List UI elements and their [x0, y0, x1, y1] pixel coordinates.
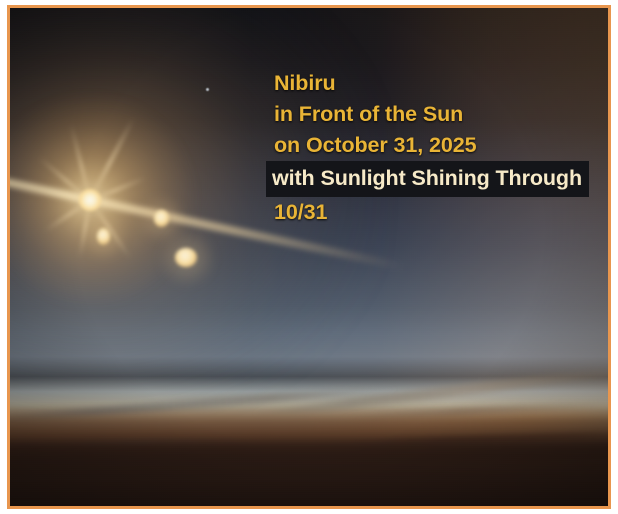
caption-line-1: Nibiru: [268, 68, 598, 99]
caption-line-2: in Front of the Sun: [268, 99, 598, 130]
orb-lower-right: [175, 248, 197, 267]
orb-upper-right: [154, 210, 169, 227]
sky-photograph: Nibiru in Front of the Sun on October 31…: [10, 8, 608, 506]
star-point: [206, 88, 209, 91]
caption-text: in Front of the Sun: [268, 102, 463, 126]
dark-foreground: [10, 404, 608, 506]
photo-frame: Nibiru in Front of the Sun on October 31…: [7, 5, 611, 509]
caption-line-5: 10/31: [268, 197, 598, 228]
caption-text: on October 31, 2025: [268, 133, 476, 157]
caption-line-3: on October 31, 2025: [268, 130, 598, 161]
caption-text: Nibiru: [268, 71, 336, 95]
caption-overlay: Nibiru in Front of the Sun on October 31…: [268, 68, 598, 228]
caption-line-4-highlighted: with Sunlight Shining Through: [268, 161, 598, 197]
orb-small-left: [97, 228, 110, 245]
sun-core: [79, 189, 101, 211]
caption-text: 10/31: [268, 200, 327, 224]
caption-text-highlighted: with Sunlight Shining Through: [266, 161, 589, 197]
